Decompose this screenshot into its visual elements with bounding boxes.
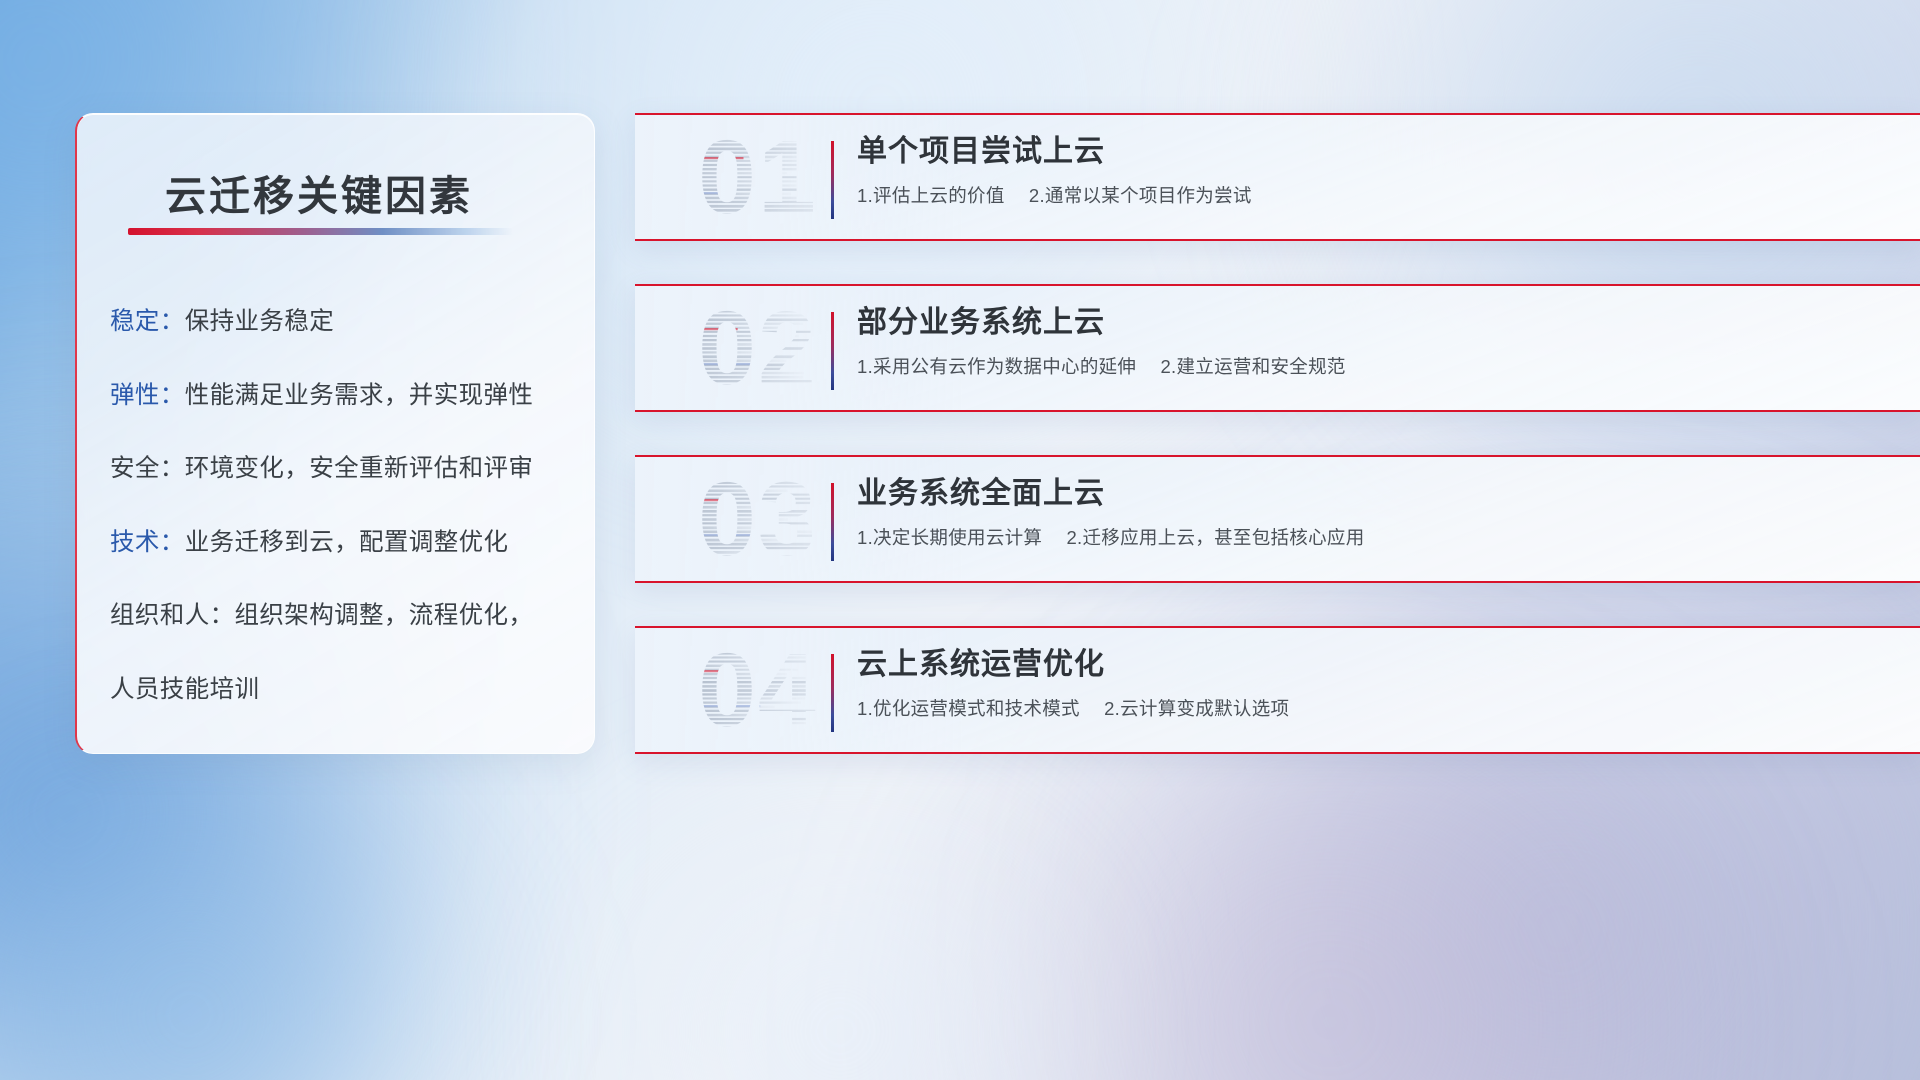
step-number-glyph: 03: [663, 465, 853, 577]
key-factors-panel: 云迁移关键因素 稳定：保持业务稳定 弹性：性能满足业务需求，并实现弹性 安全：环…: [75, 113, 595, 754]
step-title: 单个项目尝试上云: [857, 133, 1890, 171]
step-number-glyph: 02: [663, 294, 853, 406]
list-item: 稳定：保持业务稳定: [110, 310, 572, 335]
step-title: 云上系统运营优化: [857, 646, 1890, 684]
step-title: 部分业务系统上云: [857, 304, 1890, 342]
list-item-label: 技术：: [110, 529, 185, 556]
list-item-label: 弹性：: [110, 382, 185, 409]
step-subtitle: 1.决定长期使用云计算 2.迁移应用上云，甚至包括核心应用: [857, 526, 1890, 550]
step-divider-bar: [831, 141, 834, 219]
step-card-01[interactable]: 01 单个项目尝试上云 1.评估上云的价值 2.通常以某个项目作为尝试: [635, 113, 1920, 241]
step-number-glyph: 01: [663, 123, 853, 235]
step-content: 部分业务系统上云 1.采用公有云作为数据中心的延伸 2.建立运营和安全规范: [857, 304, 1890, 379]
list-item-text: 性能满足业务需求，并实现弹性: [185, 382, 534, 409]
step-divider-bar: [831, 483, 834, 561]
title-underline-accent: [128, 228, 513, 235]
step-content: 云上系统运营优化 1.优化运营模式和技术模式 2.云计算变成默认选项: [857, 646, 1890, 721]
list-item-text: 组织架构调整，流程优化，: [235, 602, 534, 629]
step-subtitle: 1.采用公有云作为数据中心的延伸 2.建立运营和安全规范: [857, 355, 1890, 379]
key-factors-list: 稳定：保持业务稳定 弹性：性能满足业务需求，并实现弹性 安全：环境变化，安全重新…: [110, 310, 572, 702]
list-item: 人员技能培训: [110, 678, 572, 703]
step-card-02[interactable]: 02 部分业务系统上云 1.采用公有云作为数据中心的延伸 2.建立运营和安全规范: [635, 284, 1920, 412]
list-item: 组织和人：组织架构调整，流程优化，: [110, 604, 572, 629]
list-item-text: 保持业务稳定: [185, 308, 334, 335]
slide-stage: 云迁移关键因素 稳定：保持业务稳定 弹性：性能满足业务需求，并实现弹性 安全：环…: [0, 0, 1920, 1080]
step-divider-bar: [831, 312, 834, 390]
step-card-04[interactable]: 04 云上系统运营优化 1.优化运营模式和技术模式 2.云计算变成默认选项: [635, 626, 1920, 754]
step-subtitle: 1.优化运营模式和技术模式 2.云计算变成默认选项: [857, 697, 1890, 721]
list-item: 弹性：性能满足业务需求，并实现弹性: [110, 384, 572, 409]
list-item-label: 组织和人：: [110, 602, 235, 629]
step-divider-bar: [831, 654, 834, 732]
step-number-glyph: 04: [663, 636, 853, 748]
list-item-label: 安全：: [110, 455, 185, 482]
step-content: 业务系统全面上云 1.决定长期使用云计算 2.迁移应用上云，甚至包括核心应用: [857, 475, 1890, 550]
step-card-03[interactable]: 03 业务系统全面上云 1.决定长期使用云计算 2.迁移应用上云，甚至包括核心应…: [635, 455, 1920, 583]
list-item: 技术：业务迁移到云，配置调整优化: [110, 531, 572, 556]
page-title: 云迁移关键因素: [165, 162, 473, 222]
list-item-text: 环境变化，安全重新评估和评审: [185, 455, 534, 482]
list-item-label: 稳定：: [110, 308, 185, 335]
step-title: 业务系统全面上云: [857, 475, 1890, 513]
step-subtitle: 1.评估上云的价值 2.通常以某个项目作为尝试: [857, 184, 1890, 208]
list-item: 安全：环境变化，安全重新评估和评审: [110, 457, 572, 482]
step-content: 单个项目尝试上云 1.评估上云的价值 2.通常以某个项目作为尝试: [857, 133, 1890, 208]
list-item-text: 业务迁移到云，配置调整优化: [185, 529, 509, 556]
list-item-text: 人员技能培训: [110, 676, 259, 703]
